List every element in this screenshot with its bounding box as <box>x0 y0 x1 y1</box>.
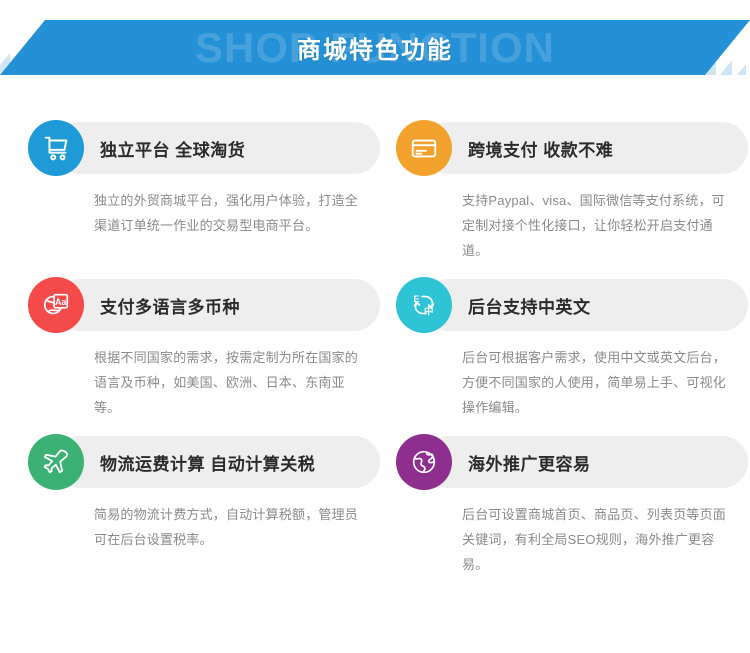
feature-header[interactable]: 跨境支付 收款不难 <box>422 122 748 174</box>
banner-inner: SHOP FUNCTION 商城特色功能 <box>0 20 750 75</box>
language-translate-icon: Aa <box>28 277 84 333</box>
feature-card: E 中 后台支持中英文 后台可根据客户需求，使用中文或英文后台，方便不同国家的人… <box>396 279 748 420</box>
chinese-english-translate-icon: E 中 <box>396 277 452 333</box>
svg-text:Aa: Aa <box>55 297 66 307</box>
shopping-cart-icon <box>28 120 84 176</box>
feature-card: Aa 支付多语言多币种 根据不同国家的需求，按需定制为所在国家的语言及币种，如美… <box>28 279 380 420</box>
feature-title: 跨境支付 收款不难 <box>468 136 613 161</box>
feature-title: 物流运费计算 自动计算关税 <box>100 450 315 475</box>
feature-description: 支持Paypal、visa、国际微信等支付系统，可定制对接个性化接口，让你轻松开… <box>462 188 732 263</box>
feature-card: 海外推广更容易 后台可设置商城首页、商品页、列表页等页面关键词，有利全局SEO规… <box>396 436 748 577</box>
credit-card-icon <box>396 120 452 176</box>
feature-title: 支付多语言多币种 <box>100 293 240 318</box>
feature-grid: 独立平台 全球淘货 独立的外贸商城平台，强化用户体验，打造全渠道订单统一作业的交… <box>0 100 750 577</box>
feature-card: 物流运费计算 自动计算关税 简易的物流计费方式，自动计算税额，管理员可在后台设置… <box>28 436 380 577</box>
feature-title: 后台支持中英文 <box>468 293 591 318</box>
feature-header[interactable]: E 中 后台支持中英文 <box>422 279 748 331</box>
feature-description: 独立的外贸商城平台，强化用户体验，打造全渠道订单统一作业的交易型电商平台。 <box>94 188 364 238</box>
airplane-icon <box>28 434 84 490</box>
feature-title: 海外推广更容易 <box>468 450 591 475</box>
page-title: 商城特色功能 <box>0 20 750 75</box>
page-header-banner: SHOP FUNCTION 商城特色功能 <box>0 0 750 100</box>
feature-card: 跨境支付 收款不难 支持Paypal、visa、国际微信等支付系统，可定制对接个… <box>396 122 748 263</box>
feature-description: 后台可设置商城首页、商品页、列表页等页面关键词，有利全局SEO规则，海外推广更容… <box>462 502 732 577</box>
feature-header[interactable]: 物流运费计算 自动计算关税 <box>54 436 380 488</box>
feature-header[interactable]: Aa 支付多语言多币种 <box>54 279 380 331</box>
feature-description: 根据不同国家的需求，按需定制为所在国家的语言及币种，如美国、欧洲、日本、东南亚等… <box>94 345 364 420</box>
feature-header[interactable]: 海外推广更容易 <box>422 436 748 488</box>
feature-card: 独立平台 全球淘货 独立的外贸商城平台，强化用户体验，打造全渠道订单统一作业的交… <box>28 122 380 263</box>
feature-description: 后台可根据客户需求，使用中文或英文后台，方便不同国家的人使用，简单易上手、可视化… <box>462 345 732 420</box>
feature-description: 简易的物流计费方式，自动计算税额，管理员可在后台设置税率。 <box>94 502 364 552</box>
globe-icon <box>396 434 452 490</box>
feature-title: 独立平台 全球淘货 <box>100 136 245 161</box>
feature-header[interactable]: 独立平台 全球淘货 <box>54 122 380 174</box>
